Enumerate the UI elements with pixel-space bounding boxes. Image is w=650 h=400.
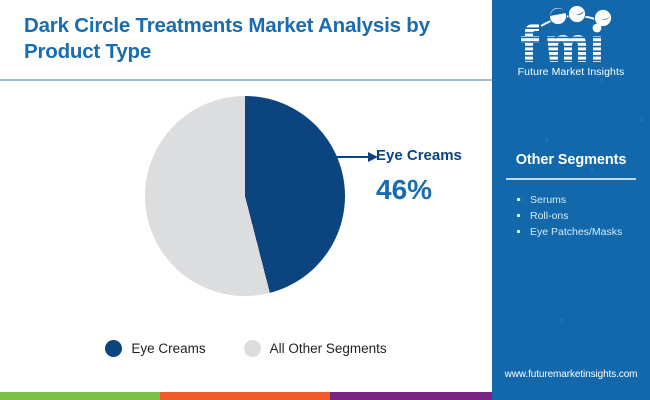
pie-chart (145, 96, 345, 296)
other-segments-divider (506, 178, 636, 180)
bar-segment-blue (492, 392, 650, 400)
bottom-color-bar (0, 392, 650, 400)
list-item: Eye Patches/Masks (516, 224, 646, 240)
globe-icon (550, 8, 567, 25)
fmi-logo-mark (511, 6, 631, 64)
list-item: Roll-ons (516, 208, 646, 224)
other-segments-title: Other Segments (492, 152, 650, 168)
callout-label: Eye Creams (376, 147, 462, 164)
chart-legend: Eye Creams All Other Segments (0, 340, 492, 357)
legend-item-label: All Other Segments (270, 341, 387, 356)
legend-swatch-icon (105, 340, 122, 357)
page-title: Dark Circle Treatments Market Analysis b… (24, 13, 444, 65)
other-segments-list: Serums Roll-ons Eye Patches/Masks (516, 192, 646, 240)
list-item: Serums (516, 192, 646, 208)
callout-value: 46% (376, 174, 432, 206)
legend-item-label: Eye Creams (131, 341, 205, 356)
legend-item-all-other-segments[interactable]: All Other Segments (244, 340, 387, 357)
main-content-area: Dark Circle Treatments Market Analysis b… (0, 0, 492, 392)
infographic-page: Dark Circle Treatments Market Analysis b… (0, 0, 650, 400)
bar-segment-purple (330, 392, 492, 400)
fmi-logo[interactable]: Future Market Insights (492, 6, 650, 78)
bar-segment-green (0, 392, 160, 400)
logo-tagline: Future Market Insights (492, 66, 650, 78)
globe-icon (569, 6, 586, 23)
title-divider (0, 79, 492, 81)
pie-chart-slices (145, 96, 345, 296)
arrow-right-icon (330, 149, 380, 165)
side-panel: Future Market Insights Other Segments Se… (492, 0, 650, 392)
legend-swatch-icon (244, 340, 261, 357)
site-url[interactable]: www.futuremarketinsights.com (492, 369, 650, 380)
bar-segment-orange (160, 392, 330, 400)
legend-item-eye-creams[interactable]: Eye Creams (105, 340, 205, 357)
